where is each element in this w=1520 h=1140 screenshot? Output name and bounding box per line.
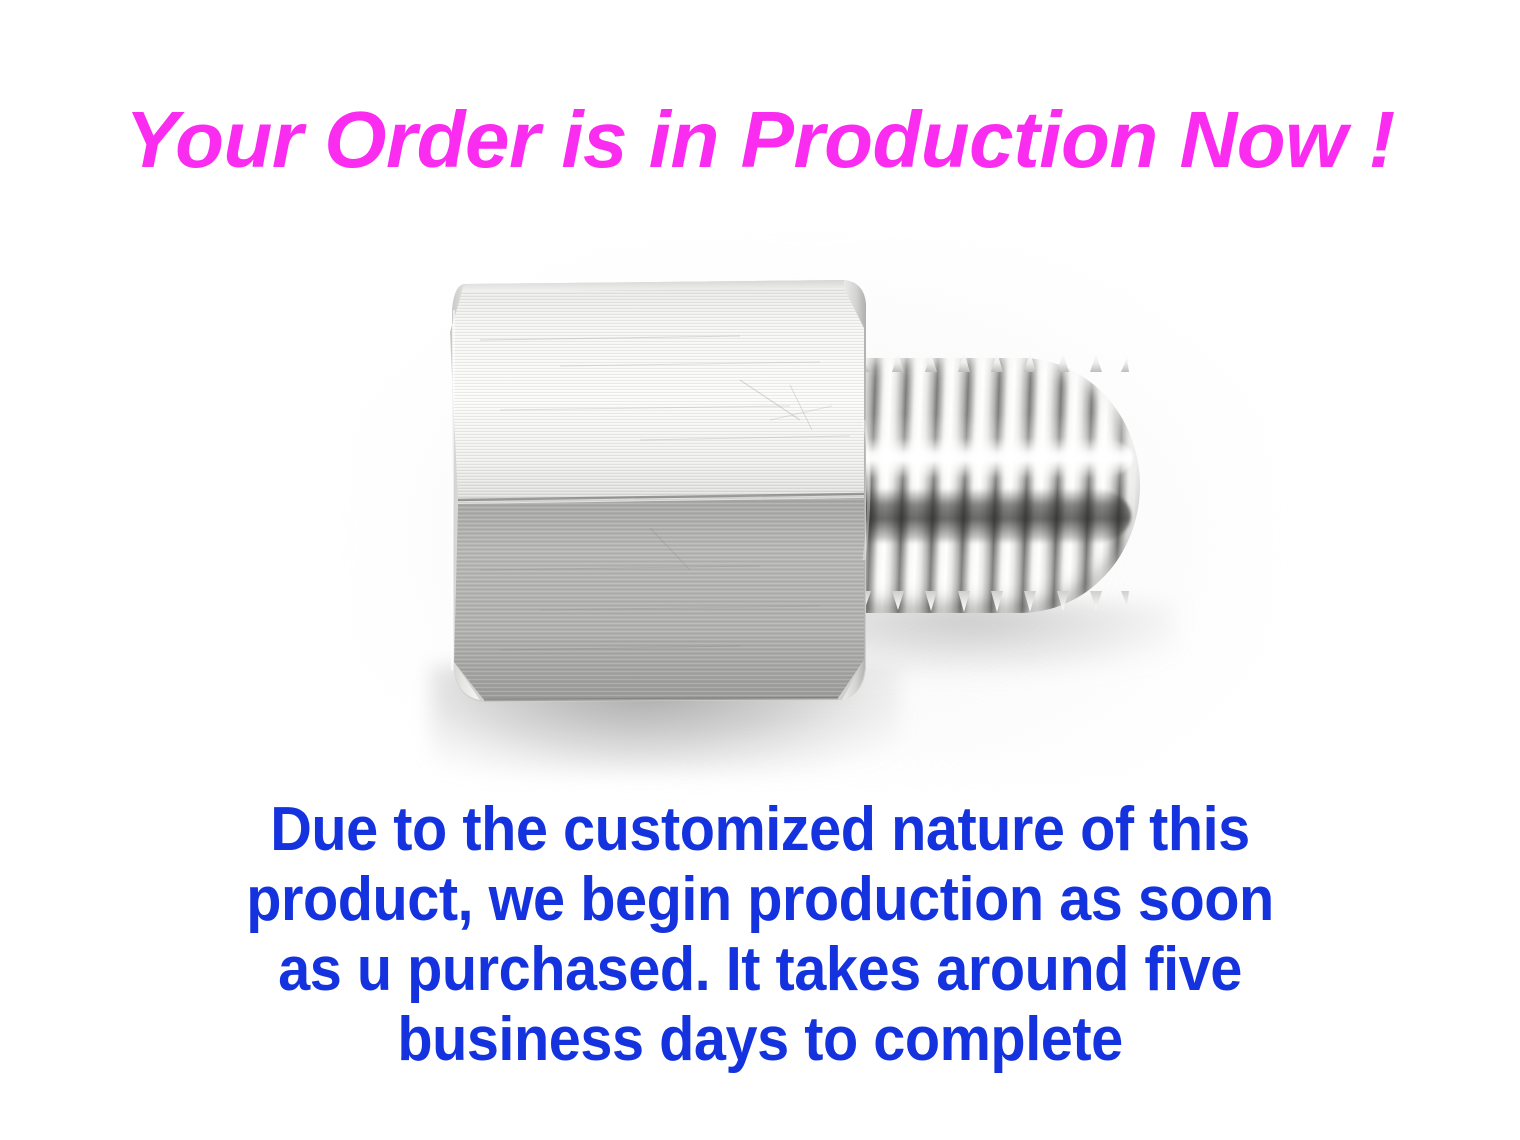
notice-line-2: product, we begin production as soon xyxy=(53,865,1467,935)
hex-body xyxy=(440,270,890,730)
thread-barrel xyxy=(855,358,1140,613)
thread-specular-highlight xyxy=(857,438,1133,478)
male-threaded-nipple xyxy=(855,350,1155,620)
thread-shadow-band xyxy=(857,488,1131,544)
production-notice-text: Due to the customized nature of this pro… xyxy=(0,795,1520,1075)
product-notice-banner: Your Order is in Production Now ! xyxy=(0,0,1520,1140)
notice-line-3: as u purchased. It takes around five xyxy=(53,935,1467,1005)
thread-crest-top-icon xyxy=(859,350,1129,372)
notice-line-1: Due to the customized nature of this xyxy=(53,795,1467,865)
page-title: Your Order is in Production Now ! xyxy=(0,92,1520,188)
product-photo xyxy=(0,210,1520,790)
hex-body-shape-icon xyxy=(440,270,880,718)
notice-line-4: business days to complete xyxy=(53,1005,1467,1075)
thread-crest-bottom-icon xyxy=(859,591,1129,613)
